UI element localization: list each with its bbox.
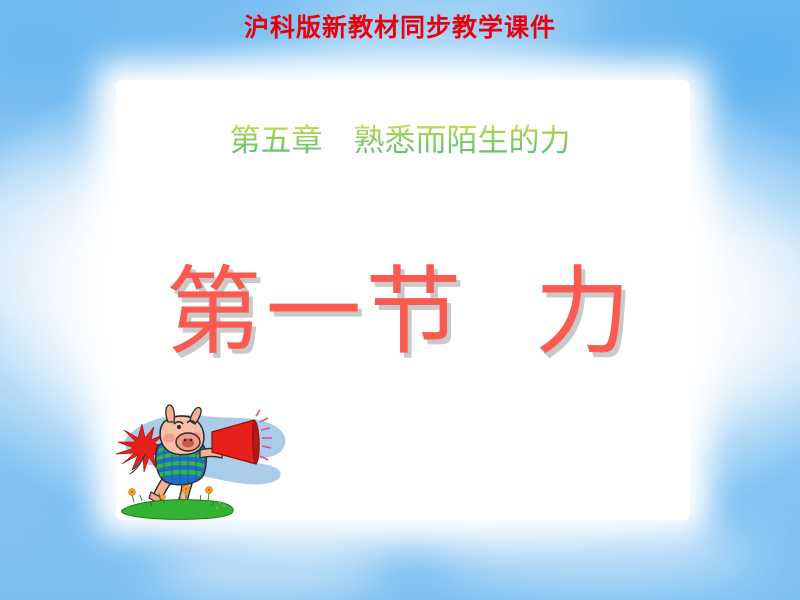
- section-main-title: 第一节 力: [0, 250, 800, 374]
- slide-header-title: 沪科版新教材同步教学课件: [0, 12, 800, 44]
- flower-icon: [206, 487, 213, 501]
- grass-mound: [122, 500, 234, 520]
- flower-icon: [129, 489, 136, 502]
- presentation-slide: 沪科版新教材同步教学课件 第五章 熟悉而陌生的力 第一节 力: [0, 0, 800, 600]
- chapter-title: 第五章 熟悉而陌生的力: [0, 120, 800, 162]
- cheerleader-pig-icon: [108, 402, 298, 524]
- pig-ear-left: [166, 405, 175, 422]
